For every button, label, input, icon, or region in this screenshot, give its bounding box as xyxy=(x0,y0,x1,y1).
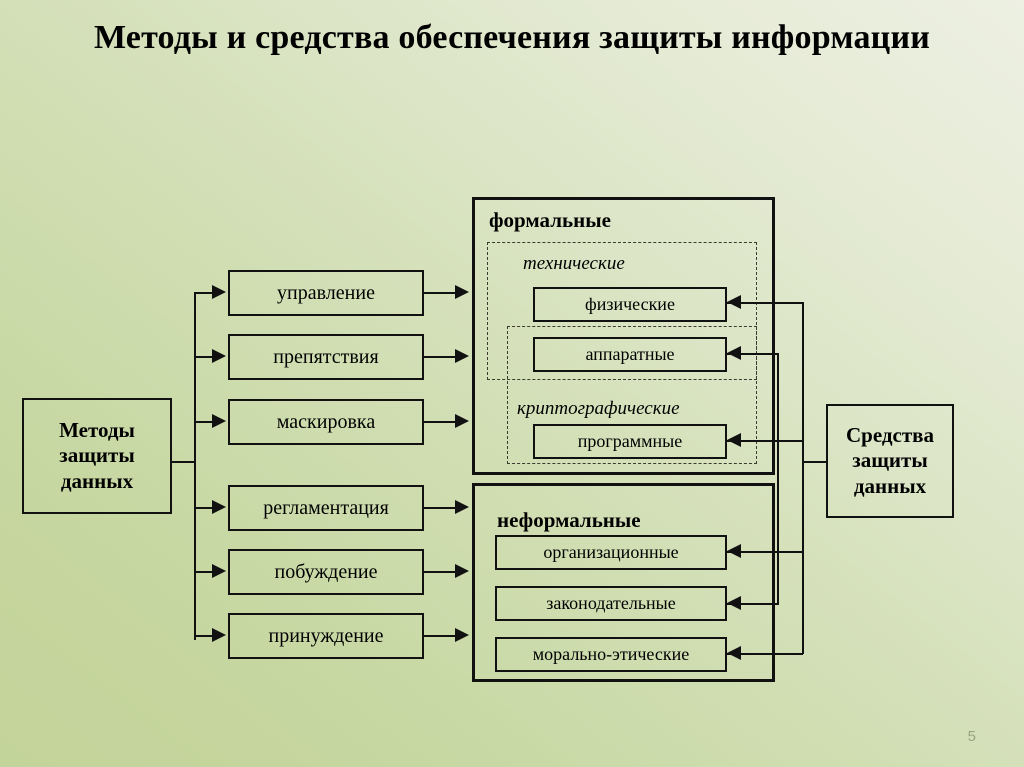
connector-method6-to-informal xyxy=(424,635,457,637)
method-label: маскировка xyxy=(277,410,375,434)
root-node-means: Средства защиты данных xyxy=(826,404,954,518)
connector-right-inner-bus xyxy=(777,353,779,605)
arrow-left-icon xyxy=(727,346,741,360)
connector-method3-to-formal xyxy=(424,421,457,423)
arrow-right-icon xyxy=(455,349,469,363)
method-label: препятствия xyxy=(273,345,378,369)
leaf-box-zakonodatelnye: законодательные xyxy=(495,586,727,621)
leaf-box-fizicheskie: физические xyxy=(533,287,727,322)
arrow-left-icon xyxy=(727,596,741,610)
method-label: принуждение xyxy=(269,624,384,648)
arrow-left-icon xyxy=(727,295,741,309)
arrow-right-icon xyxy=(455,500,469,514)
method-box-upravlenie: управление xyxy=(228,270,424,316)
page-title: Методы и средства обеспечения защиты инф… xyxy=(0,16,1024,60)
arrow-right-icon xyxy=(212,500,226,514)
root-means-line3: данных xyxy=(854,474,926,500)
leaf-box-apparatnye: аппаратные xyxy=(533,337,727,372)
connector-method2-to-formal xyxy=(424,356,457,358)
connector-bus-to-method-2 xyxy=(194,356,214,358)
root-methods-line3: данных xyxy=(61,469,133,495)
connector-method5-to-informal xyxy=(424,571,457,573)
root-means-line2: защиты xyxy=(852,448,927,474)
connector-bus-to-method-1 xyxy=(194,292,214,294)
method-box-pobuzhdenie: побуждение xyxy=(228,549,424,595)
leaf-label: аппаратные xyxy=(585,344,674,366)
group-title-informal: неформальные xyxy=(497,508,641,534)
arrow-right-icon xyxy=(212,285,226,299)
arrow-right-icon xyxy=(212,414,226,428)
connector-bus-to-method-4 xyxy=(194,507,214,509)
connector-bus-to-method-6 xyxy=(194,635,214,637)
leaf-label: организационные xyxy=(543,542,678,564)
slide-canvas: Методы и средства обеспечения защиты инф… xyxy=(0,0,1024,767)
connector-bus-to-method-5 xyxy=(194,571,214,573)
connector-method4-to-informal xyxy=(424,507,457,509)
arrow-right-icon xyxy=(212,628,226,642)
root-methods-line2: защиты xyxy=(59,443,134,469)
leaf-box-moralno-eticheskie: морально-этические xyxy=(495,637,727,672)
connector-root-stub xyxy=(172,461,194,463)
method-box-prepyatstviya: препятствия xyxy=(228,334,424,380)
method-box-prinuzhdenie: принуждение xyxy=(228,613,424,659)
arrow-right-icon xyxy=(455,628,469,642)
connector-means-stub xyxy=(802,461,826,463)
method-label: управление xyxy=(277,281,375,305)
leaf-label: законодательные xyxy=(546,593,676,615)
leaf-box-programmnye: программные xyxy=(533,424,727,459)
subgroup-title-cryptographic: криптографические xyxy=(517,397,680,420)
root-methods-line1: Методы xyxy=(59,418,135,444)
root-node-methods: Методы защиты данных xyxy=(22,398,172,514)
connector-method1-to-formal xyxy=(424,292,457,294)
arrow-left-icon xyxy=(727,544,741,558)
method-label: регламентация xyxy=(263,496,389,520)
arrow-right-icon xyxy=(212,349,226,363)
leaf-box-organizacionnye: организационные xyxy=(495,535,727,570)
connector-right-outer-bus xyxy=(802,302,804,654)
arrow-right-icon xyxy=(455,564,469,578)
leaf-label: физические xyxy=(585,294,675,316)
arrow-right-icon xyxy=(455,285,469,299)
arrow-left-icon xyxy=(727,433,741,447)
method-box-reglamentaciya: регламентация xyxy=(228,485,424,531)
page-number: 5 xyxy=(968,728,976,745)
root-means-line1: Средства xyxy=(846,423,934,449)
connector-bus-to-method-3 xyxy=(194,421,214,423)
method-box-maskirovka: маскировка xyxy=(228,399,424,445)
leaf-label: морально-этические xyxy=(533,644,689,666)
group-title-formal: формальные xyxy=(489,208,611,234)
connector-left-bus xyxy=(194,292,196,640)
leaf-label: программные xyxy=(578,431,683,453)
method-label: побуждение xyxy=(274,560,377,584)
arrow-right-icon xyxy=(455,414,469,428)
subgroup-title-technical: технические xyxy=(523,252,625,275)
arrow-left-icon xyxy=(727,646,741,660)
arrow-right-icon xyxy=(212,564,226,578)
